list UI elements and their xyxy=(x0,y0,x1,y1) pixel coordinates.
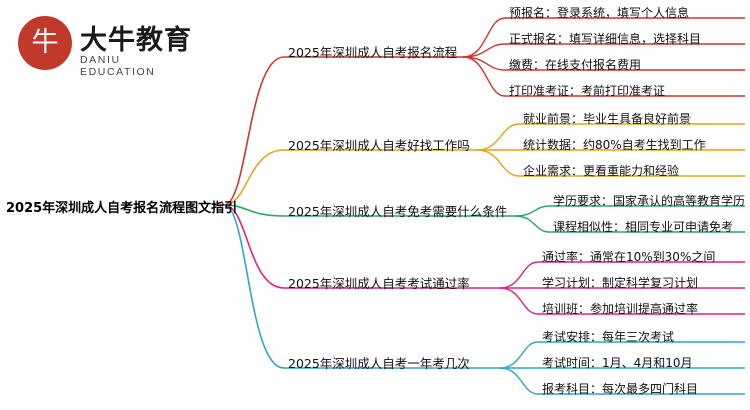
branch-label-2: 2025年深圳成人自考好找工作吗 xyxy=(288,135,470,154)
leaf-label-3-1: 学历要求：国家承认的高等教育学历 xyxy=(553,192,745,209)
mindmap-root-label: 2025年深圳成人自考报名流程图文指引 xyxy=(6,197,237,216)
leaf-label-4-1: 通过率：通常在10%到30%之间 xyxy=(542,248,715,265)
leaf-label-3-2: 课程相似性：相同专业可申请免考 xyxy=(553,218,733,235)
leaf-label-5-1: 考试安排：每年三次考试 xyxy=(542,328,674,345)
mindmap-canvas: 牛 大牛教育 DANIU EDUCATION xyxy=(0,0,750,410)
leaf-label-2-1: 就业前景：毕业生具备良好前景 xyxy=(523,110,691,127)
leaf-label-1-4: 打印准考证：考前打印准考证 xyxy=(509,82,665,99)
leaf-label-5-3: 报考科目：每次最多四门科目 xyxy=(542,380,698,397)
leaf-label-2-2: 统计数据：约80%自考生找到工作 xyxy=(523,136,706,153)
branch-label-1: 2025年深圳成人自考报名流程 xyxy=(288,42,457,61)
leaf-label-4-2: 学习计划：制定科学复习计划 xyxy=(542,274,698,291)
leaf-label-1-1: 预报名：登录系统，填写个人信息 xyxy=(509,4,689,21)
leaf-label-1-3: 缴费：在线支付报名费用 xyxy=(509,56,641,73)
branch-label-3: 2025年深圳成人自考免考需要什么条件 xyxy=(288,201,507,220)
branch-label-4: 2025年深圳成人自考考试通过率 xyxy=(288,273,470,292)
leaf-label-1-2: 正式报名：填写详细信息，选择科目 xyxy=(509,30,701,47)
branch-label-5: 2025年深圳成人自考一年考几次 xyxy=(288,353,470,372)
leaf-label-2-3: 企业需求：更看重能力和经验 xyxy=(523,162,679,179)
leaf-label-4-3: 培训班：参加培训提高通过率 xyxy=(542,300,698,317)
leaf-label-5-2: 考试时间：1月、4月和10月 xyxy=(542,354,693,371)
